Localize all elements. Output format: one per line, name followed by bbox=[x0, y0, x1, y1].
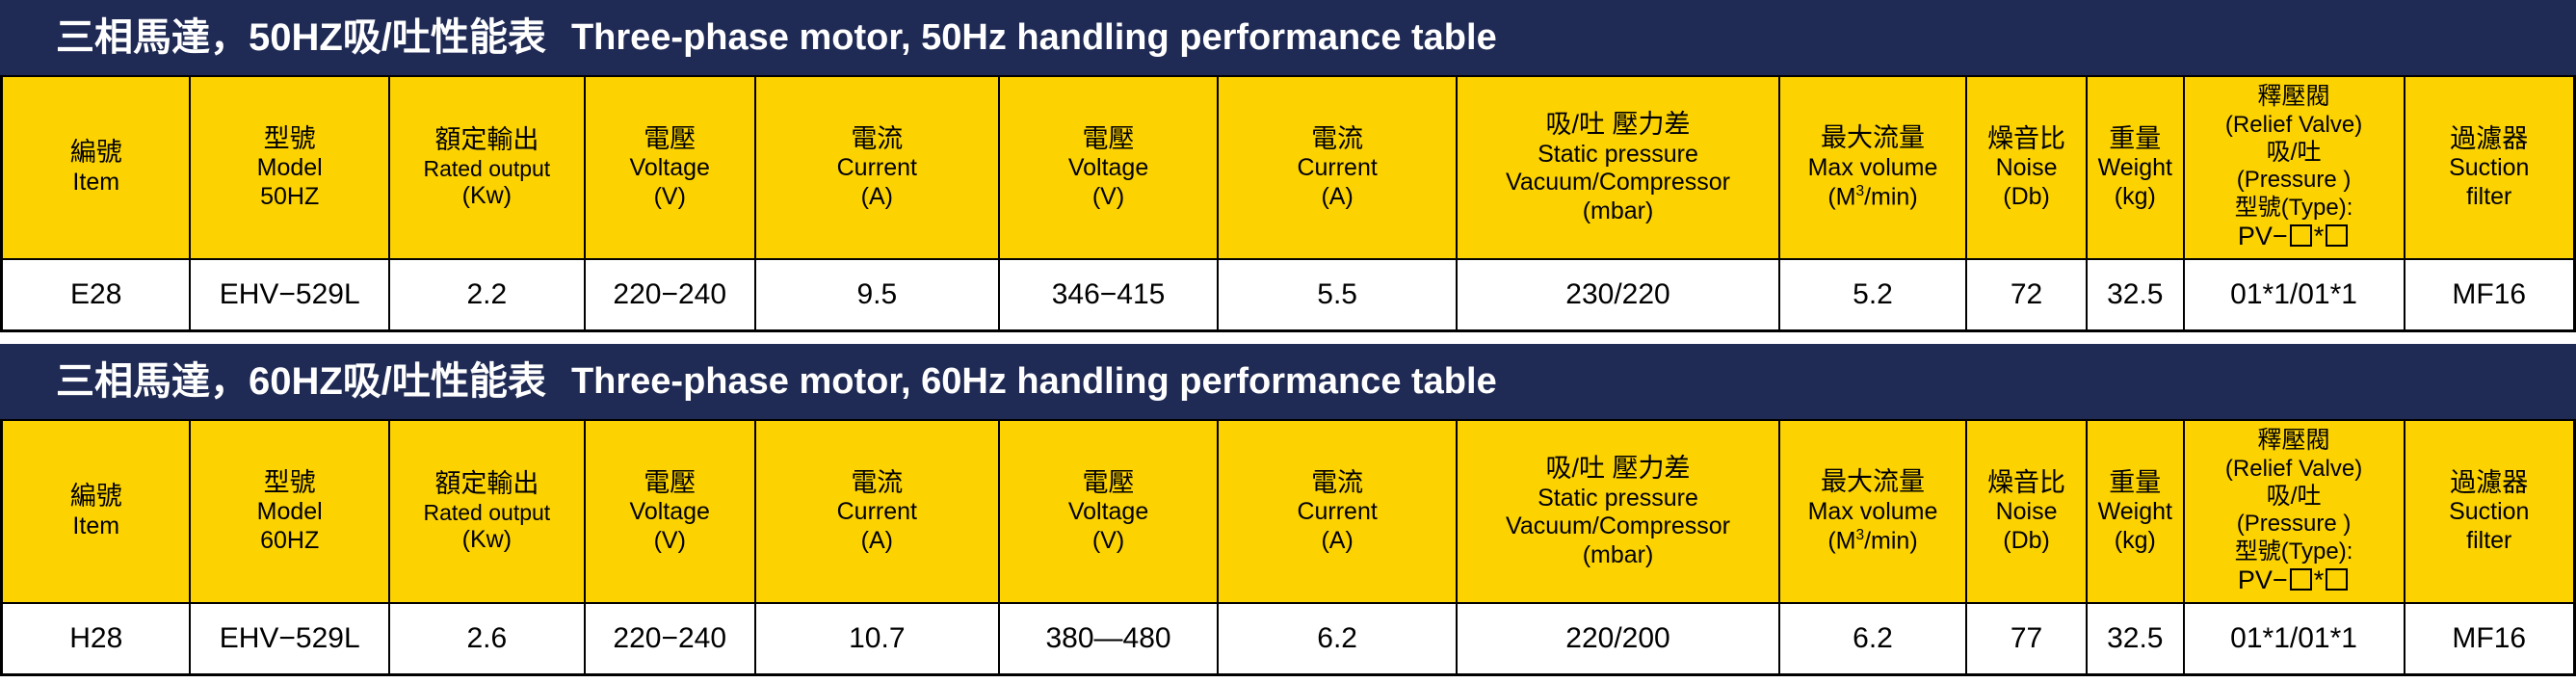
section-divider bbox=[0, 332, 2576, 344]
col-header-weight: 重量 Weight (kg) bbox=[2087, 420, 2184, 603]
cell-item: E28 bbox=[2, 259, 191, 331]
relief-valve-type-pattern: PV−* bbox=[2185, 565, 2404, 596]
placeholder-box-icon bbox=[2326, 568, 2348, 591]
col-header-current-1: 電流 Current (A) bbox=[755, 420, 999, 603]
cell-noise: 77 bbox=[1966, 603, 2087, 675]
col-header-noise: 燥音比 Noise (Db) bbox=[1966, 420, 2087, 603]
cell-static-pressure: 220/200 bbox=[1457, 603, 1779, 675]
cell-voltage-2: 346−415 bbox=[999, 259, 1218, 331]
col-header-voltage-1: 電壓 Voltage (V) bbox=[585, 420, 755, 603]
col-header-suction-filter: 過濾器 Suction filter bbox=[2405, 76, 2575, 259]
table-row: E28 EHV−529L 2.2 220−240 9.5 346−415 5.5… bbox=[2, 259, 2575, 331]
col-header-voltage-2: 電壓 Voltage (V) bbox=[999, 76, 1218, 259]
cell-current-2: 6.2 bbox=[1218, 603, 1457, 675]
cell-suction-filter: MF16 bbox=[2405, 603, 2575, 675]
col-header-static-pressure: 吸/吐 壓力差 Static pressure Vacuum/Compresso… bbox=[1457, 420, 1779, 603]
table-title-english-60hz: Three-phase motor, 60Hz handling perform… bbox=[571, 363, 1497, 400]
col-header-item: 編號 Item bbox=[2, 76, 191, 259]
table-title-bar-50hz: 三相馬達，50HZ吸/吐性能表 Three-phase motor, 50Hz … bbox=[0, 0, 2576, 75]
col-header-noise: 燥音比 Noise (Db) bbox=[1966, 76, 2087, 259]
cell-model: EHV−529L bbox=[190, 259, 388, 331]
col-header-current-1: 電流 Current (A) bbox=[755, 76, 999, 259]
cell-voltage-2: 380—480 bbox=[999, 603, 1218, 675]
cell-current-2: 5.5 bbox=[1218, 259, 1457, 331]
col-header-model: 型號 Model 50HZ bbox=[190, 76, 388, 259]
table-row: H28 EHV−529L 2.6 220−240 10.7 380—480 6.… bbox=[2, 603, 2575, 675]
cell-weight: 32.5 bbox=[2087, 259, 2184, 331]
spec-sheet: 三相馬達，50HZ吸/吐性能表 Three-phase motor, 50Hz … bbox=[0, 0, 2576, 683]
table-title-chinese-50hz: 三相馬達，50HZ吸/吐性能表 bbox=[56, 18, 546, 57]
cell-current-1: 10.7 bbox=[755, 603, 999, 675]
spec-table-60hz: 編號 Item 型號 Model 60HZ 額定輸出 Rated output … bbox=[0, 419, 2576, 676]
cell-max-volume: 5.2 bbox=[1779, 259, 1966, 331]
col-header-current-2: 電流 Current (A) bbox=[1218, 76, 1457, 259]
col-header-max-volume: 最大流量 Max volume (M3/min) bbox=[1779, 420, 1966, 603]
table-header-row-60hz: 編號 Item 型號 Model 60HZ 額定輸出 Rated output … bbox=[2, 420, 2575, 603]
cell-suction-filter: MF16 bbox=[2405, 259, 2575, 331]
cell-voltage-1: 220−240 bbox=[585, 259, 755, 331]
placeholder-box-icon bbox=[2326, 224, 2348, 247]
col-header-voltage-1: 電壓 Voltage (V) bbox=[585, 76, 755, 259]
cell-current-1: 9.5 bbox=[755, 259, 999, 331]
cell-rated-output: 2.2 bbox=[389, 259, 585, 331]
col-header-relief-valve: 釋壓閥 (Relief Valve) 吸/吐 (Pressure ) 型號(Ty… bbox=[2184, 76, 2405, 259]
col-header-static-pressure: 吸/吐 壓力差 Static pressure Vacuum/Compresso… bbox=[1457, 76, 1779, 259]
cell-relief-valve: 01*1/01*1 bbox=[2184, 259, 2405, 331]
col-header-max-volume: 最大流量 Max volume (M3/min) bbox=[1779, 76, 1966, 259]
table-header-row-50hz: 編號 Item 型號 Model 50HZ 額定輸出 Rated output … bbox=[2, 76, 2575, 259]
cell-weight: 32.5 bbox=[2087, 603, 2184, 675]
cell-relief-valve: 01*1/01*1 bbox=[2184, 603, 2405, 675]
cell-item: H28 bbox=[2, 603, 191, 675]
col-header-relief-valve: 釋壓閥 (Relief Valve) 吸/吐 (Pressure ) 型號(Ty… bbox=[2184, 420, 2405, 603]
cell-max-volume: 6.2 bbox=[1779, 603, 1966, 675]
cell-voltage-1: 220−240 bbox=[585, 603, 755, 675]
cell-rated-output: 2.6 bbox=[389, 603, 585, 675]
relief-valve-type-pattern: PV−* bbox=[2185, 222, 2404, 252]
col-header-current-2: 電流 Current (A) bbox=[1218, 420, 1457, 603]
table-title-english-50hz: Three-phase motor, 50Hz handling perform… bbox=[571, 19, 1497, 56]
placeholder-box-icon bbox=[2290, 224, 2312, 247]
col-header-suction-filter: 過濾器 Suction filter bbox=[2405, 420, 2575, 603]
table-title-chinese-60hz: 三相馬達，60HZ吸/吐性能表 bbox=[56, 362, 546, 401]
col-header-weight: 重量 Weight (kg) bbox=[2087, 76, 2184, 259]
spec-table-50hz: 編號 Item 型號 Model 50HZ 額定輸出 Rated output … bbox=[0, 75, 2576, 332]
col-header-item: 編號 Item bbox=[2, 420, 191, 603]
col-header-voltage-2: 電壓 Voltage (V) bbox=[999, 420, 1218, 603]
cell-noise: 72 bbox=[1966, 259, 2087, 331]
placeholder-box-icon bbox=[2290, 568, 2312, 591]
col-header-rated-output: 額定輸出 Rated output (Kw) bbox=[389, 76, 585, 259]
cell-static-pressure: 230/220 bbox=[1457, 259, 1779, 331]
col-header-model: 型號 Model 60HZ bbox=[190, 420, 388, 603]
cell-model: EHV−529L bbox=[190, 603, 388, 675]
table-title-bar-60hz: 三相馬達，60HZ吸/吐性能表 Three-phase motor, 60Hz … bbox=[0, 344, 2576, 419]
col-header-rated-output: 額定輸出 Rated output (Kw) bbox=[389, 420, 585, 603]
